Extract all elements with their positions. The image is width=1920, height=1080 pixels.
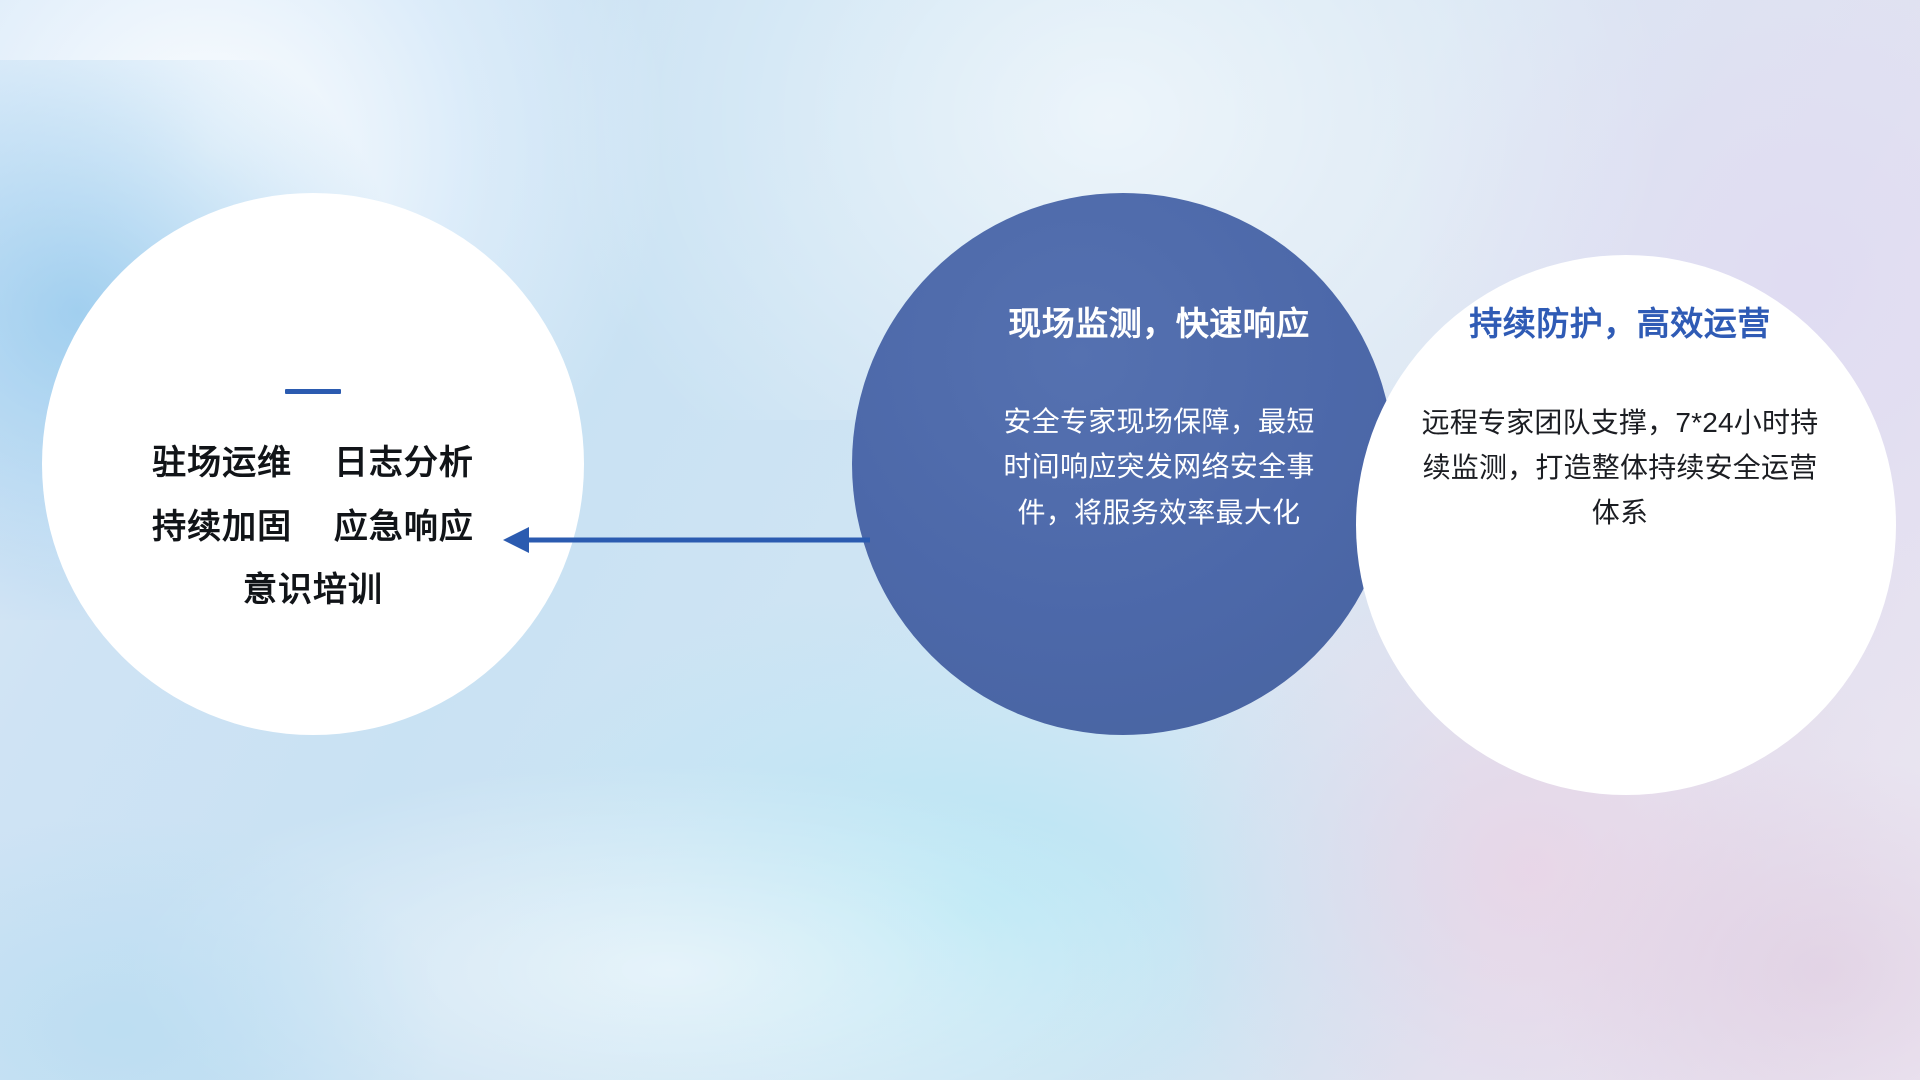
right-circle-content: 持续防护，高效运营 远程专家团队支撑，7*24小时持续监测，打造整体持续安全运营… (1356, 255, 1896, 795)
left-circle-content: 驻场运维 日志分析 持续加固 应急响应 意识培训 (42, 193, 584, 735)
middle-circle-body: 安全专家现场保障，最短时间响应突发网络安全事件，将服务效率最大化 (994, 399, 1324, 535)
left-keyword-line-3: 意识培训 (243, 573, 383, 609)
left-keyword-line-1: 驻场运维 日志分析 (152, 446, 474, 482)
middle-circle-title: 现场监测，快速响应 (1008, 297, 1310, 345)
left-keyword-line-2: 持续加固 应急响应 (152, 510, 474, 546)
middle-circle-content: 现场监测，快速响应 安全专家现场保障，最短时间响应突发网络安全事件，将服务效率最… (852, 193, 1394, 735)
background-glow-bottom-left (0, 820, 440, 1080)
background-glow-bottom-right (1540, 760, 1920, 1080)
right-circle-title: 持续防护，高效运营 (1469, 297, 1771, 345)
right-circle-body: 远程专家团队支撑，7*24小时持续监测，打造整体持续安全运营体系 (1410, 401, 1830, 535)
left-divider-line (285, 389, 341, 394)
